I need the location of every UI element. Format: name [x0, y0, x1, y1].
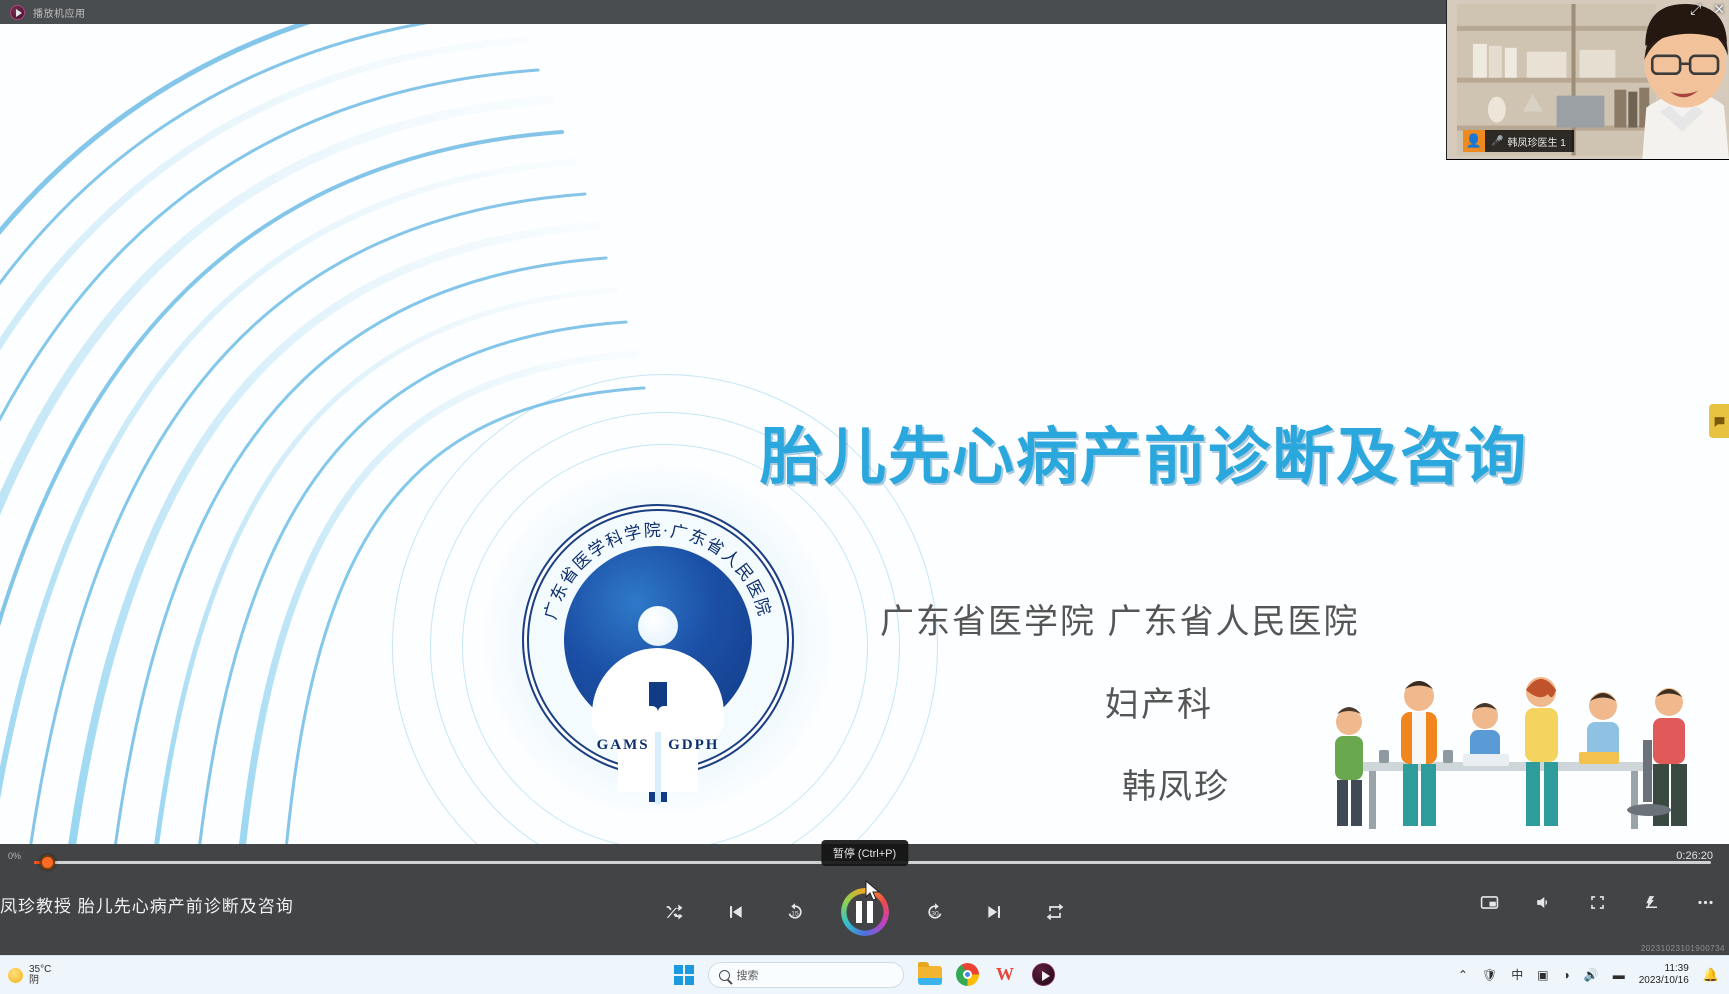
shuffle-icon [665, 902, 685, 922]
next-icon [985, 902, 1005, 922]
playback-speed-icon [1642, 893, 1661, 912]
secondary-controls [1475, 888, 1719, 916]
media-player-button[interactable] [1032, 963, 1056, 987]
play-circle-icon [10, 5, 25, 20]
chat-bubble-icon [1713, 415, 1726, 428]
participant-name: 韩凤珍医生 1 [1507, 134, 1565, 149]
forward-30-icon: 30 [925, 902, 945, 922]
fullscreen-button[interactable] [1583, 888, 1611, 916]
seek-bar-handle[interactable] [40, 855, 55, 870]
participant-nameplate: 👤 🎤 韩凤珍医生 1 [1463, 130, 1574, 152]
more-button[interactable] [1691, 888, 1719, 916]
svg-text:15: 15 [791, 910, 799, 917]
search-icon [719, 970, 730, 981]
elapsed-time-label: 0:26:20 [1676, 850, 1713, 862]
volume-button[interactable] [1529, 888, 1557, 916]
repeat-button[interactable] [1041, 898, 1069, 926]
system-tray: ⌃ 🛡 中 ▣ ◑ 🔊 ▬ 11:39 2023/10/16 🔔 [1458, 963, 1725, 988]
clock-date: 2023/10/16 [1639, 975, 1689, 988]
fullscreen-icon [1588, 893, 1607, 912]
battery-icon[interactable]: ▬ [1613, 969, 1625, 981]
wifi-icon[interactable]: ◑ [1563, 969, 1570, 981]
volume-icon [1534, 893, 1553, 912]
shield-icon[interactable]: 🛡 [1482, 969, 1497, 981]
miniplayer-button[interactable] [1475, 888, 1503, 916]
taskbar-weather-widget[interactable]: 35°C 阴 [0, 964, 170, 987]
slide-speaker-name: 韩凤珍 [1122, 759, 1230, 808]
miniplayer-icon [1480, 893, 1499, 912]
pause-tooltip: 暂停 (Ctrl+P) [821, 840, 908, 866]
folder-icon [918, 966, 942, 985]
player-control-bar: 0% 凤珍教授 胎儿先心病产前诊断及咨询 15 暂停 (Ctrl+ [0, 844, 1729, 955]
transport-controls: 15 暂停 (Ctrl+P) 30 [661, 888, 1069, 936]
chrome-button[interactable] [956, 963, 980, 987]
chevron-up-icon[interactable]: ⌃ [1458, 969, 1468, 981]
previous-icon [725, 902, 745, 922]
speaker-icon[interactable]: 🔊 [1584, 969, 1599, 981]
wps-button[interactable]: W [994, 963, 1018, 987]
player-icon [1032, 963, 1055, 986]
chat-bubble-tab[interactable] [1709, 404, 1729, 438]
next-button[interactable] [981, 898, 1009, 926]
speed-button[interactable] [1637, 888, 1665, 916]
repeat-icon [1045, 902, 1065, 922]
webcam-window-controls[interactable]: ⤢ ✕ [1690, 2, 1725, 16]
now-playing-title: 凤珍教授 胎儿先心病产前诊断及咨询 [0, 892, 294, 917]
chrome-icon [956, 963, 979, 986]
app-title: 播放机应用 [33, 5, 86, 20]
windows-taskbar: 35°C 阴 搜索 W ⌃ 🛡 中 ▣ ◑ 🔊 ▬ 11:39 [0, 955, 1729, 994]
shuffle-button[interactable] [661, 898, 689, 926]
recording-watermark: 20231023101900734 [1641, 944, 1725, 953]
webcam-pip-panel[interactable]: ⤢ ✕ 👤 🎤 韩凤珍医生 1 [1446, 0, 1729, 160]
app-icon[interactable]: ▣ [1537, 969, 1548, 981]
slide-department: 妇产科 [1105, 677, 1213, 726]
more-horizontal-icon [1696, 893, 1715, 912]
microphone-icon: 🎤 [1491, 136, 1503, 147]
clock-time: 11:39 [1639, 963, 1689, 976]
previous-button[interactable] [721, 898, 749, 926]
taskbar-center-group: 搜索 W [674, 962, 1056, 988]
close-icon[interactable]: ✕ [1713, 2, 1725, 16]
windows-start-icon[interactable] [674, 965, 694, 985]
desktop-root: 播放机应用 [0, 0, 1729, 994]
hospital-logo-icon: 广东省医学科学院·广东省人民医院 GAMS · GDPH [516, 498, 800, 782]
sun-icon [8, 968, 23, 983]
search-input[interactable]: 搜索 [708, 962, 904, 988]
svg-text:30: 30 [931, 910, 939, 917]
people-illustration-icon [1313, 644, 1713, 844]
ime-icon[interactable]: 中 [1511, 969, 1523, 981]
slide-organization: 广东省医学院 广东省人民医院 [880, 594, 1359, 643]
taskbar-clock[interactable]: 11:39 2023/10/16 [1639, 963, 1689, 988]
forward-button[interactable]: 30 [921, 898, 949, 926]
rewind-15-icon: 15 [785, 902, 805, 922]
notification-bell-icon[interactable]: 🔔 [1703, 967, 1719, 983]
user-avatar-icon: 👤 [1463, 130, 1485, 152]
restore-icon[interactable]: ⤢ [1690, 2, 1701, 16]
rewind-button[interactable]: 15 [781, 898, 809, 926]
search-placeholder: 搜索 [737, 967, 759, 983]
file-explorer-button[interactable] [918, 963, 942, 987]
weather-temperature: 35°C [29, 964, 51, 976]
wps-icon: W [994, 963, 1017, 986]
pause-button[interactable]: 暂停 (Ctrl+P) [841, 888, 889, 936]
weather-condition: 阴 [29, 975, 51, 987]
slide-title: 胎儿先心病产前诊断及咨询 [760, 406, 1640, 496]
